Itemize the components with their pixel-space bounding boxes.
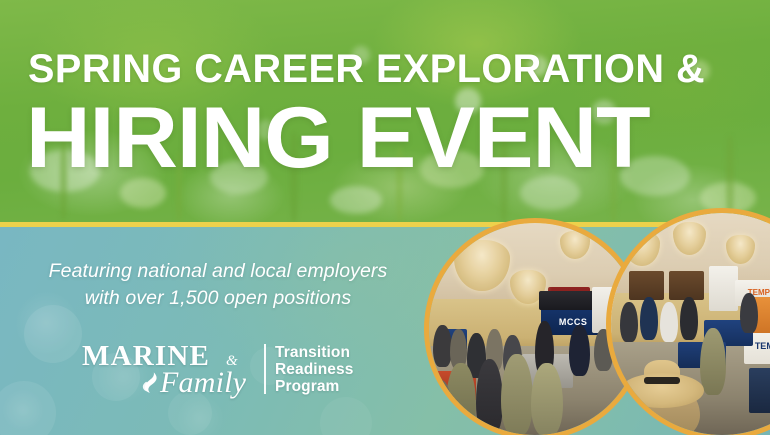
spring-career-hiring-event-banner: SPRING CAREER EXPLORATION & HIRING EVENT… (0, 0, 770, 435)
hat-band (644, 377, 680, 384)
bokeh-circle (0, 381, 56, 435)
employer-booths-scene: TEMPO TEMPO (611, 213, 770, 435)
wood-wall-panel (669, 271, 705, 300)
attendee (569, 325, 590, 376)
program-line-3: Program (275, 378, 353, 395)
event-tagline: Featuring national and local employers w… (18, 258, 418, 312)
headline-block: SPRING CAREER EXPLORATION & HIRING EVENT (0, 0, 770, 222)
marine-in-camouflage (700, 328, 727, 395)
logo-wordmark: MARINE & Family (80, 341, 258, 397)
recruiter (660, 302, 678, 342)
booth-table-cloth (749, 368, 770, 412)
program-line-2: Readiness (275, 361, 353, 378)
career-fair-booths-photo-inner: TEMPO TEMPO (611, 213, 770, 435)
event-title-line-2: HIRING EVENT (26, 92, 650, 184)
flame-icon (142, 372, 159, 393)
career-fair-booths-photo: TEMPO TEMPO (606, 208, 770, 435)
booth-backdrop (709, 266, 738, 310)
recruiter (640, 297, 658, 339)
event-title-line-1: SPRING CAREER EXPLORATION & (28, 48, 705, 90)
logo-program-text: Transition Readiness Program (275, 344, 353, 395)
marine-in-camouflage (501, 354, 533, 435)
program-line-1: Transition (275, 344, 353, 361)
bokeh-circle (320, 397, 372, 435)
recruiter (740, 293, 758, 333)
logo-family-row: Family (142, 367, 246, 398)
tagline-line-2: with over 1,500 open positions (18, 285, 418, 312)
marine-and-family-logo: MARINE & Family Transition Readiness Pro… (80, 340, 353, 398)
bokeh-circle (24, 305, 82, 363)
logo-family-text: Family (160, 367, 246, 398)
recruiter (620, 302, 638, 342)
marine-in-camouflage (476, 359, 504, 435)
wood-wall-panel (629, 271, 665, 300)
marine-in-camouflage (531, 363, 563, 435)
recruiter (680, 297, 698, 339)
logo-divider-bar (264, 344, 266, 394)
tagline-line-1: Featuring national and local employers (18, 258, 418, 285)
